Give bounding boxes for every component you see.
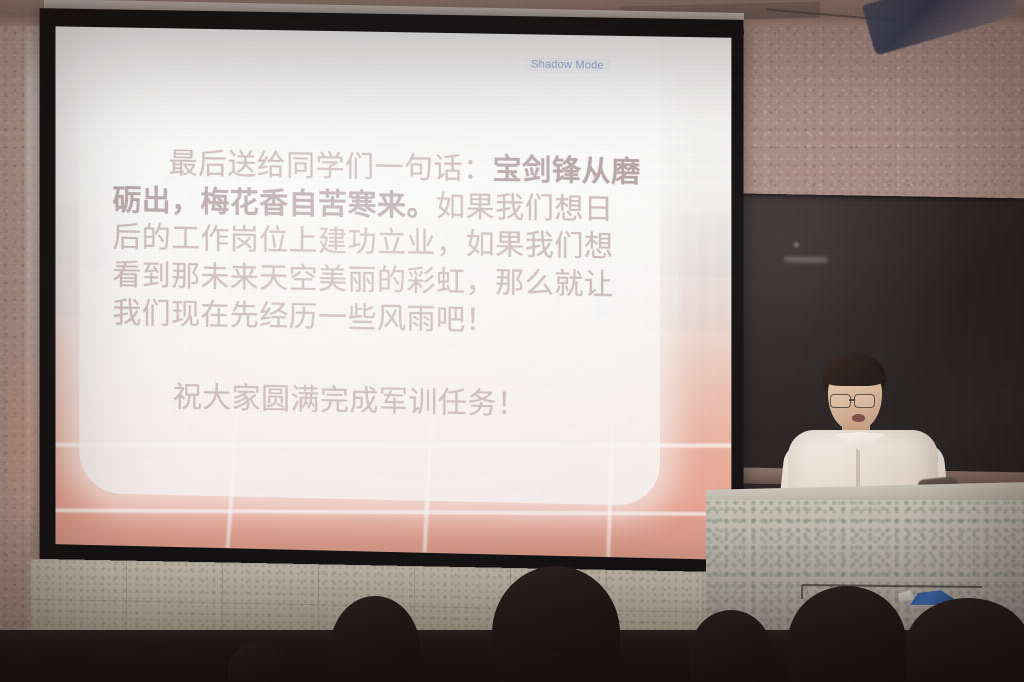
glasses-bridge-icon	[849, 399, 855, 401]
chalk-dot	[794, 242, 799, 247]
chalk-smudge	[784, 256, 828, 263]
presenter-mouth	[852, 414, 865, 422]
slide-line-1-normal: 最后送给同学们一句话：	[169, 146, 493, 186]
podium-shelf-bracket	[801, 585, 803, 599]
slide-body-text: 最后送给同学们一句话：宝剑锋从磨 砺出，梅花香自苦寒来。如果我们想日 后的工作岗…	[112, 144, 666, 343]
audience-head	[906, 598, 1024, 682]
glasses-left-lens-icon	[830, 394, 851, 408]
slide-line-2-normal: 如果我们想日	[436, 189, 614, 226]
projection-screen-surface[interactable]: Shadow Mode 最后送给同学们一句话：宝剑锋从磨 砺出，梅花香自苦寒来。…	[55, 26, 731, 560]
lecture-hall-scene: Shadow Mode 最后送给同学们一句话：宝剑锋从磨 砺出，梅花香自苦寒来。…	[0, 0, 1024, 682]
glasses-right-lens-icon	[854, 394, 875, 408]
shadow-mode-badge[interactable]: Shadow Mode	[524, 57, 611, 74]
slide-line-2-emphasis: 砺出，梅花香自苦寒来。	[112, 182, 436, 222]
projection-screen-frame: Shadow Mode 最后送给同学们一句话：宝剑锋从磨 砺出，梅花香自苦寒来。…	[40, 8, 744, 576]
slide-line-1-emphasis: 宝剑锋从磨	[493, 152, 641, 189]
track-lane-line	[55, 509, 731, 517]
wall-light-spill-lower	[8, 300, 34, 575]
